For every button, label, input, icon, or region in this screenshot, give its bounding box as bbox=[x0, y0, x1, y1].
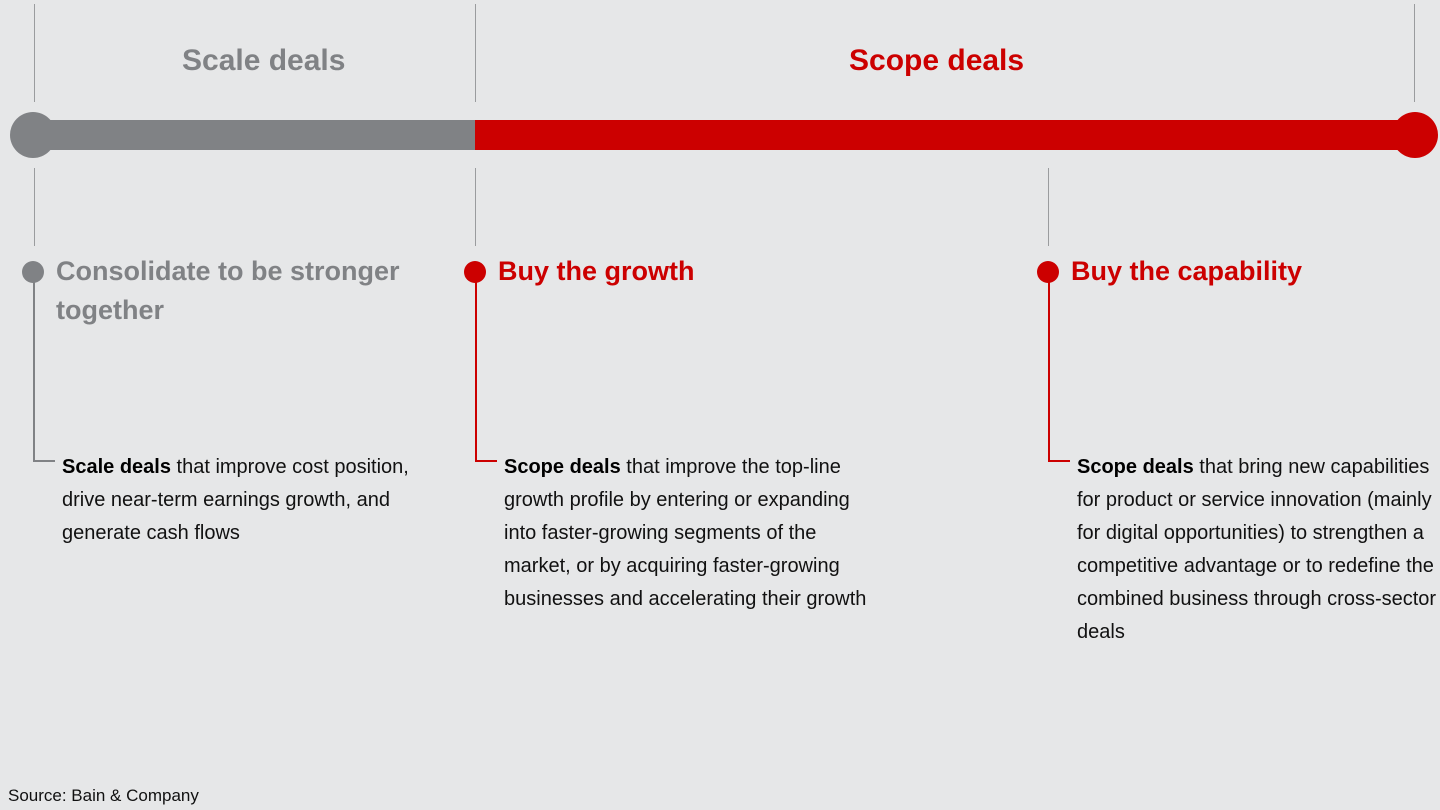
column-body-lead: Scale deals bbox=[62, 456, 171, 478]
column-body-text: Scope deals that improve the top-line gr… bbox=[504, 451, 869, 616]
leader-line-foot bbox=[33, 460, 55, 462]
column-body-rest: that bring new capabilities for product … bbox=[1077, 456, 1436, 643]
column-heading-label: Consolidate to be stronger together bbox=[56, 252, 416, 330]
leader-line-stem bbox=[475, 280, 477, 462]
spectrum-bar-scope-segment bbox=[475, 120, 1415, 150]
leader-line-stem bbox=[1048, 280, 1050, 462]
gridline-tick-left-top bbox=[34, 4, 35, 102]
column-heading-label: Buy the growth bbox=[498, 252, 858, 291]
gridline-tick-left-bottom bbox=[34, 168, 35, 246]
gridline-tick-far-right-top bbox=[1414, 4, 1415, 102]
column-heading-label: Buy the capability bbox=[1071, 252, 1431, 291]
spectrum-label-scale-deals: Scale deals bbox=[182, 46, 345, 76]
column-body-lead: Scope deals bbox=[1077, 456, 1194, 478]
gridline-tick-middle-bottom bbox=[475, 168, 476, 246]
source-note: Source: Bain & Company bbox=[8, 786, 199, 806]
column-body-rest: that improve the top-line growth profile… bbox=[504, 456, 866, 610]
spectrum-bar-scale-segment bbox=[33, 120, 475, 150]
leader-line-foot bbox=[475, 460, 497, 462]
spectrum-label-scope-deals: Scope deals bbox=[849, 46, 1024, 76]
gridline-tick-right-bottom bbox=[1048, 168, 1049, 246]
leader-line-foot bbox=[1048, 460, 1070, 462]
column-body-text: Scope deals that bring new capabilities … bbox=[1077, 451, 1440, 649]
diagram-canvas: Scale deals Scope deals Consolidate to b… bbox=[0, 0, 1440, 810]
spectrum-endpoint-right-circle bbox=[1392, 112, 1438, 158]
gridline-tick-middle-top bbox=[475, 4, 476, 102]
column-body-text: Scale deals that improve cost position, … bbox=[62, 451, 427, 550]
column-body-lead: Scope deals bbox=[504, 456, 621, 478]
leader-line-stem bbox=[33, 280, 35, 462]
